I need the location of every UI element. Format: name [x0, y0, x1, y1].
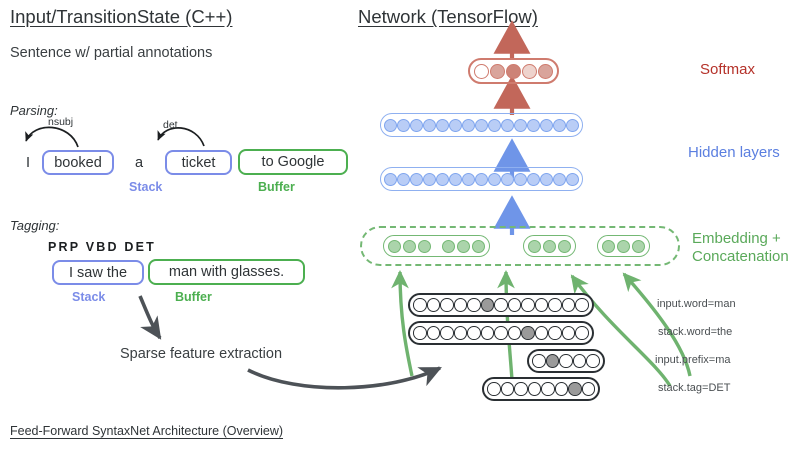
parse-token-3: ticket [182, 155, 216, 171]
hidden-node [566, 173, 579, 186]
parse-token-ticket-box[interactable]: ticket [165, 150, 232, 175]
sparse-node-active [568, 382, 582, 396]
hidden-node [501, 119, 514, 132]
hidden-node [449, 173, 462, 186]
parse-token-0: I [26, 155, 30, 171]
sparse-node [413, 298, 427, 312]
right-panel-title: Network (TensorFlow) [358, 6, 538, 28]
sparse-node [494, 326, 508, 340]
embedding-label-line1: Embedding + [692, 230, 789, 248]
softmax-node [474, 64, 489, 79]
embedding-node [602, 240, 615, 253]
sparse-node [548, 298, 562, 312]
sparse-node [562, 298, 576, 312]
sparse-node [535, 298, 549, 312]
embedding-node [528, 240, 541, 253]
hidden-layer-2[interactable] [380, 167, 583, 191]
embedding-node [442, 240, 455, 253]
sparse-node [508, 326, 522, 340]
sparse-feature-label-1: input.word=man [657, 298, 736, 310]
sparse-node [427, 326, 441, 340]
arc-label-nsubj: nsubj [48, 116, 73, 128]
left-panel-subtitle: Sentence w/ partial annotations [10, 45, 212, 61]
softmax-layer[interactable] [468, 58, 559, 84]
sparse-node [573, 354, 587, 368]
footer-caption: Feed-Forward SyntaxNet Architecture (Ove… [10, 424, 283, 438]
tagging-buffer-words: man with glasses. [169, 264, 284, 280]
arc-label-det: det [163, 119, 178, 131]
sparse-feature-row-2[interactable] [408, 321, 594, 345]
sparse-node [532, 354, 546, 368]
sparse-feature-label-4: stack.tag=DET [658, 382, 730, 394]
embedding-subgroup [442, 240, 485, 253]
embedding-group-1[interactable] [383, 235, 490, 257]
embedding-node [418, 240, 431, 253]
sparse-node [440, 298, 454, 312]
hidden-node [566, 119, 579, 132]
hidden-node [540, 119, 553, 132]
hidden-node [488, 173, 501, 186]
sparse-node [427, 298, 441, 312]
sparse-node [501, 382, 515, 396]
sparse-node [548, 326, 562, 340]
hidden-node [553, 173, 566, 186]
embedding-node [403, 240, 416, 253]
hidden-node [527, 119, 540, 132]
parse-token-booked-box[interactable]: booked [42, 150, 114, 175]
embedding-group-3[interactable] [597, 235, 650, 257]
embedding-node [388, 240, 401, 253]
tagging-tags: PRP VBD DET [48, 240, 156, 254]
hidden-layer-1[interactable] [380, 113, 583, 137]
sparse-node [555, 382, 569, 396]
parse-buffer-box[interactable]: to Google [238, 149, 348, 175]
embedding-subgroup [528, 240, 571, 253]
embedding-node [632, 240, 645, 253]
hidden-node [462, 119, 475, 132]
sparse-node [413, 326, 427, 340]
hidden-node [553, 119, 566, 132]
sparse-node [541, 382, 555, 396]
softmax-label: Softmax [700, 61, 755, 79]
sparse-node [454, 326, 468, 340]
parse-buffer-label: Buffer [258, 180, 295, 194]
hidden-node [449, 119, 462, 132]
hidden-node [397, 173, 410, 186]
softmax-node [522, 64, 537, 79]
sparse-node-active [546, 354, 560, 368]
hidden-node [436, 119, 449, 132]
softmax-node [506, 64, 521, 79]
tagging-stack-box[interactable]: I saw the [52, 260, 144, 285]
sparse-node [440, 326, 454, 340]
parse-token-2: a [135, 155, 143, 171]
sparse-node [514, 382, 528, 396]
sparse-node [535, 326, 549, 340]
hidden-node [436, 173, 449, 186]
embedding-node [457, 240, 470, 253]
hidden-node [514, 119, 527, 132]
sparse-node-active [521, 326, 535, 340]
embedding-node [472, 240, 485, 253]
sparse-node [467, 298, 481, 312]
hidden-node [462, 173, 475, 186]
embedding-node [543, 240, 556, 253]
feature-extraction-label: Sparse feature extraction [120, 346, 282, 362]
sparse-node [521, 298, 535, 312]
hidden-node [475, 173, 488, 186]
sparse-node [559, 354, 573, 368]
sparse-node [467, 326, 481, 340]
hidden-node [540, 173, 553, 186]
hidden-node [488, 119, 501, 132]
parse-token-1: booked [54, 155, 102, 171]
hidden-node [501, 173, 514, 186]
sparse-feature-label-2: stack.word=the [658, 326, 732, 338]
tagging-heading: Tagging: [10, 218, 59, 233]
sparse-node [487, 382, 501, 396]
parse-token-4: to Google [262, 154, 325, 170]
softmax-node [490, 64, 505, 79]
tagging-stack-words: I saw the [69, 265, 127, 281]
left-panel-title: Input/TransitionState (C++) [10, 6, 232, 28]
sparse-node [481, 326, 495, 340]
embedding-subgroup [388, 240, 431, 253]
embedding-node [558, 240, 571, 253]
hidden-node [410, 173, 423, 186]
hidden-layers-label: Hidden layers [688, 144, 780, 162]
hidden-node [475, 119, 488, 132]
sparse-node [575, 326, 589, 340]
sparse-feature-row-1[interactable] [408, 293, 594, 317]
sparse-node [562, 326, 576, 340]
sparse-feature-row-4[interactable] [482, 377, 600, 401]
hidden-node [423, 119, 436, 132]
softmax-node [538, 64, 553, 79]
hidden-node [514, 173, 527, 186]
embedding-group-2[interactable] [523, 235, 576, 257]
parse-stack-label: Stack [129, 180, 162, 194]
sparse-node [494, 298, 508, 312]
embedding-subgroup [602, 240, 645, 253]
hidden-node [410, 119, 423, 132]
embedding-label: Embedding + Concatenation [692, 230, 789, 265]
sparse-node-active [481, 298, 495, 312]
sparse-feature-row-3[interactable] [527, 349, 605, 373]
tagging-buffer-box[interactable]: man with glasses. [148, 259, 305, 285]
hidden-node [384, 119, 397, 132]
hidden-node [384, 173, 397, 186]
sparse-node [508, 298, 522, 312]
hidden-node [397, 119, 410, 132]
embedding-node [617, 240, 630, 253]
embedding-label-line2: Concatenation [692, 248, 789, 266]
sparse-node [582, 382, 596, 396]
hidden-node [423, 173, 436, 186]
sparse-node [528, 382, 542, 396]
sparse-feature-label-3: input.prefix=ma [655, 354, 731, 366]
hidden-node [527, 173, 540, 186]
sparse-node [454, 298, 468, 312]
sparse-node [586, 354, 600, 368]
sparse-node [575, 298, 589, 312]
